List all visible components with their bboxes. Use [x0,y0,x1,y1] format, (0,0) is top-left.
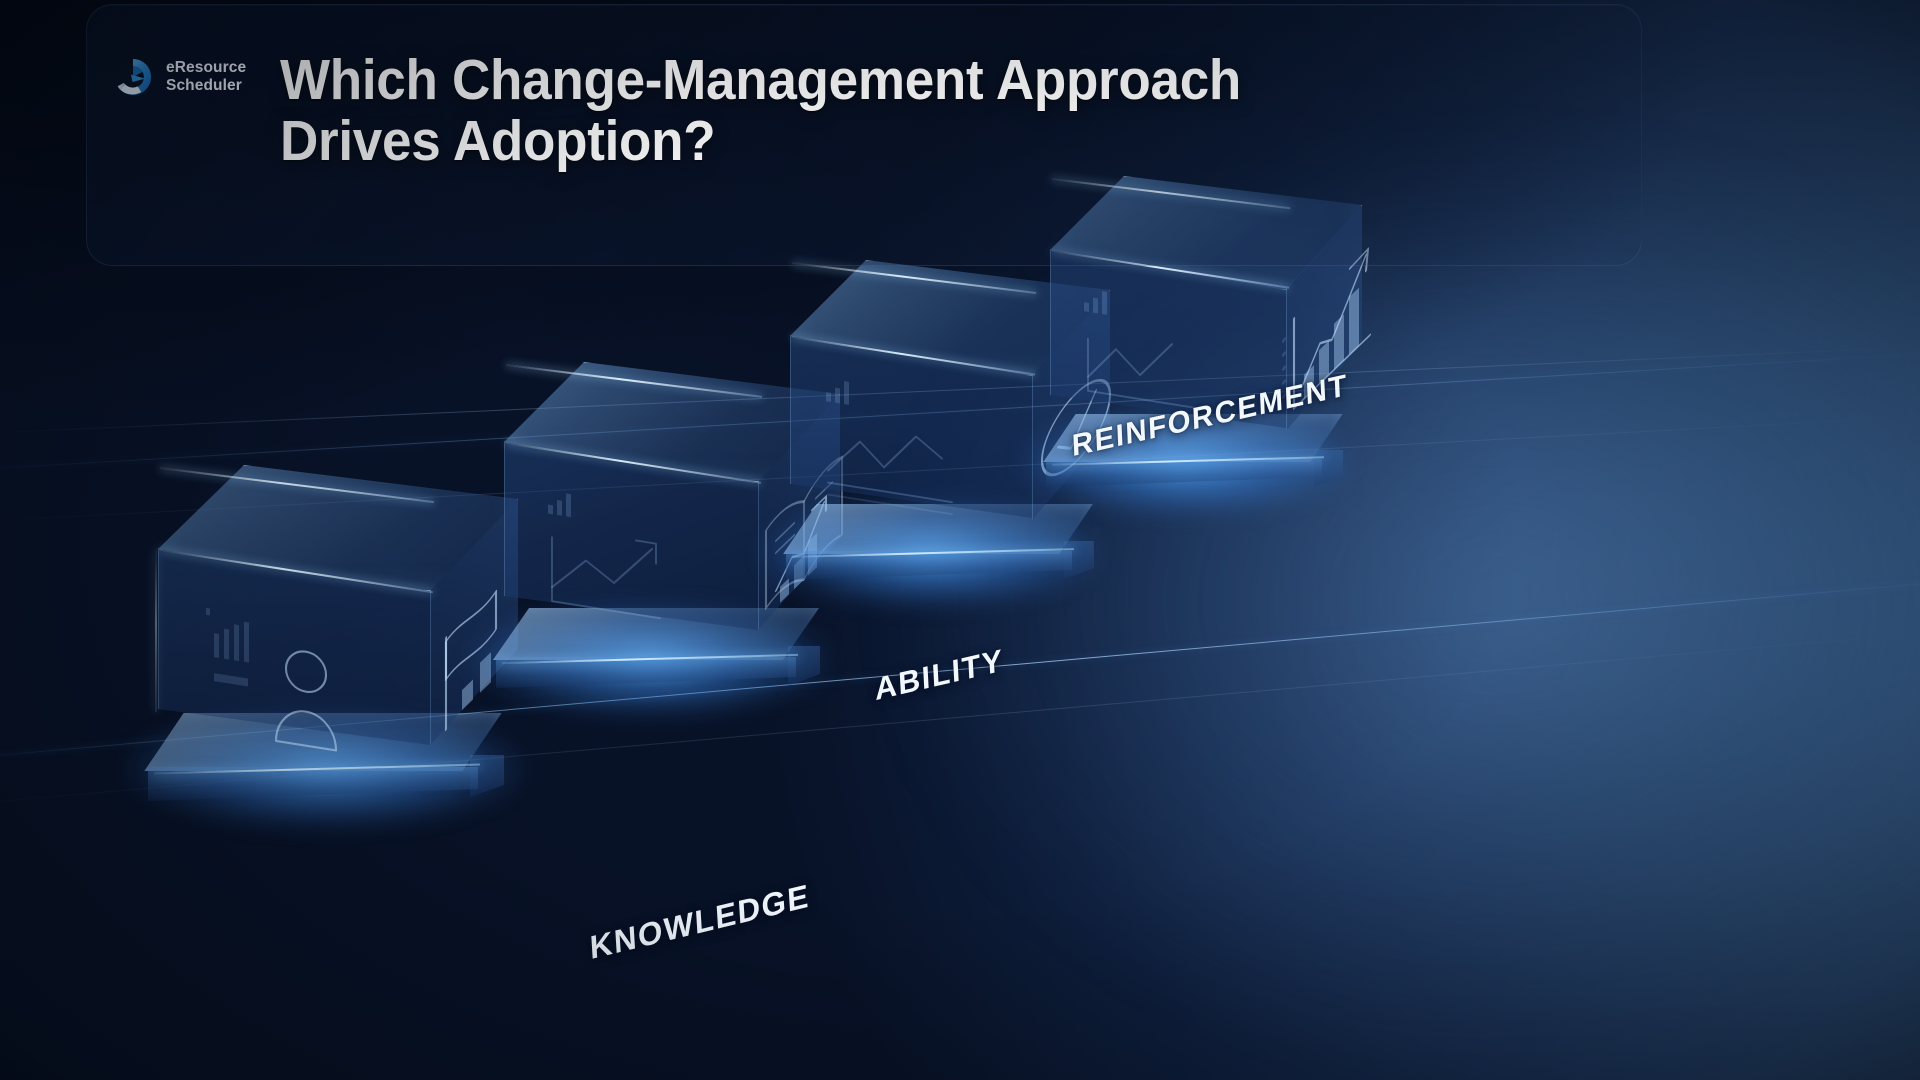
infographic-canvas: AWARENESS [0,0,1920,1080]
brand-name-line1: eResource [166,59,246,77]
eresource-logo-icon [112,56,154,98]
icon-user-profile [188,587,418,757]
stage-label-ability: ABILITY [874,642,1004,708]
stage-label-knowledge: KNOWLEDGE [589,877,811,967]
page-title-line2: Drives Adoption? [280,111,1241,172]
brand-name: eResource Scheduler [166,59,246,95]
page-title: Which Change-Management Approach Drives … [280,46,1313,172]
brand-lockup[interactable]: eResource Scheduler [76,46,266,98]
brand-name-line2: Scheduler [166,77,246,95]
page-title-line1: Which Change-Management Approach [280,50,1241,111]
header-content: eResource Scheduler Which Change-Managem… [86,4,1642,266]
